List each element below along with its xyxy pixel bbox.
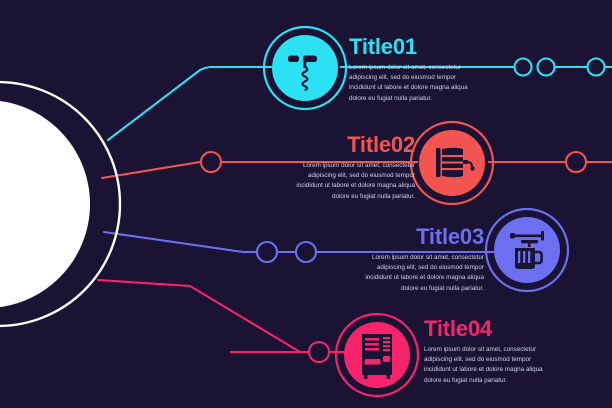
info-block-04[interactable]: Title04 Lorem ipsum dolor sit amet, cons…	[424, 318, 548, 386]
block-01-title: Title01	[349, 36, 473, 58]
connector-node	[515, 59, 532, 76]
block-04-body: Lorem ipsum dolor sit amet, consectetur …	[424, 345, 548, 386]
connector-node	[538, 59, 555, 76]
info-block-02[interactable]: Title02 Lorem ipsum dolor sit amet, cons…	[287, 134, 415, 202]
hub-circle	[0, 82, 120, 326]
block-04-title: Title04	[424, 318, 548, 340]
block-03-body: Lorem ipsum dolor sit amet, consectetur …	[360, 253, 484, 294]
connector-node	[309, 342, 329, 362]
info-block-01[interactable]: Title01 Lorem ipsum dolor sit amet, cons…	[349, 36, 473, 104]
block-02-body: Lorem ipsum dolor sit amet, consectetur …	[291, 161, 415, 202]
info-block-03[interactable]: Title03 Lorem ipsum dolor sit amet, cons…	[360, 226, 484, 294]
icon-disc-03[interactable]	[486, 209, 568, 291]
icon-disc-01[interactable]	[264, 27, 346, 109]
block-02-title: Title02	[287, 134, 415, 156]
icon-disc-04[interactable]	[336, 314, 418, 396]
connector-node	[296, 242, 316, 262]
connector-node	[201, 152, 221, 172]
infographic-canvas: Infographic element Title01 Lorem ipsum …	[0, 0, 612, 408]
block-01-body: Lorem ipsum dolor sit amet, consectetur …	[349, 63, 473, 104]
vending-machine-icon	[362, 334, 392, 379]
connector-node	[257, 242, 277, 262]
block-03-title: Title03	[360, 226, 484, 248]
icon-disc-02[interactable]	[411, 122, 493, 204]
connector-node	[588, 59, 605, 76]
connector-node	[566, 152, 586, 172]
